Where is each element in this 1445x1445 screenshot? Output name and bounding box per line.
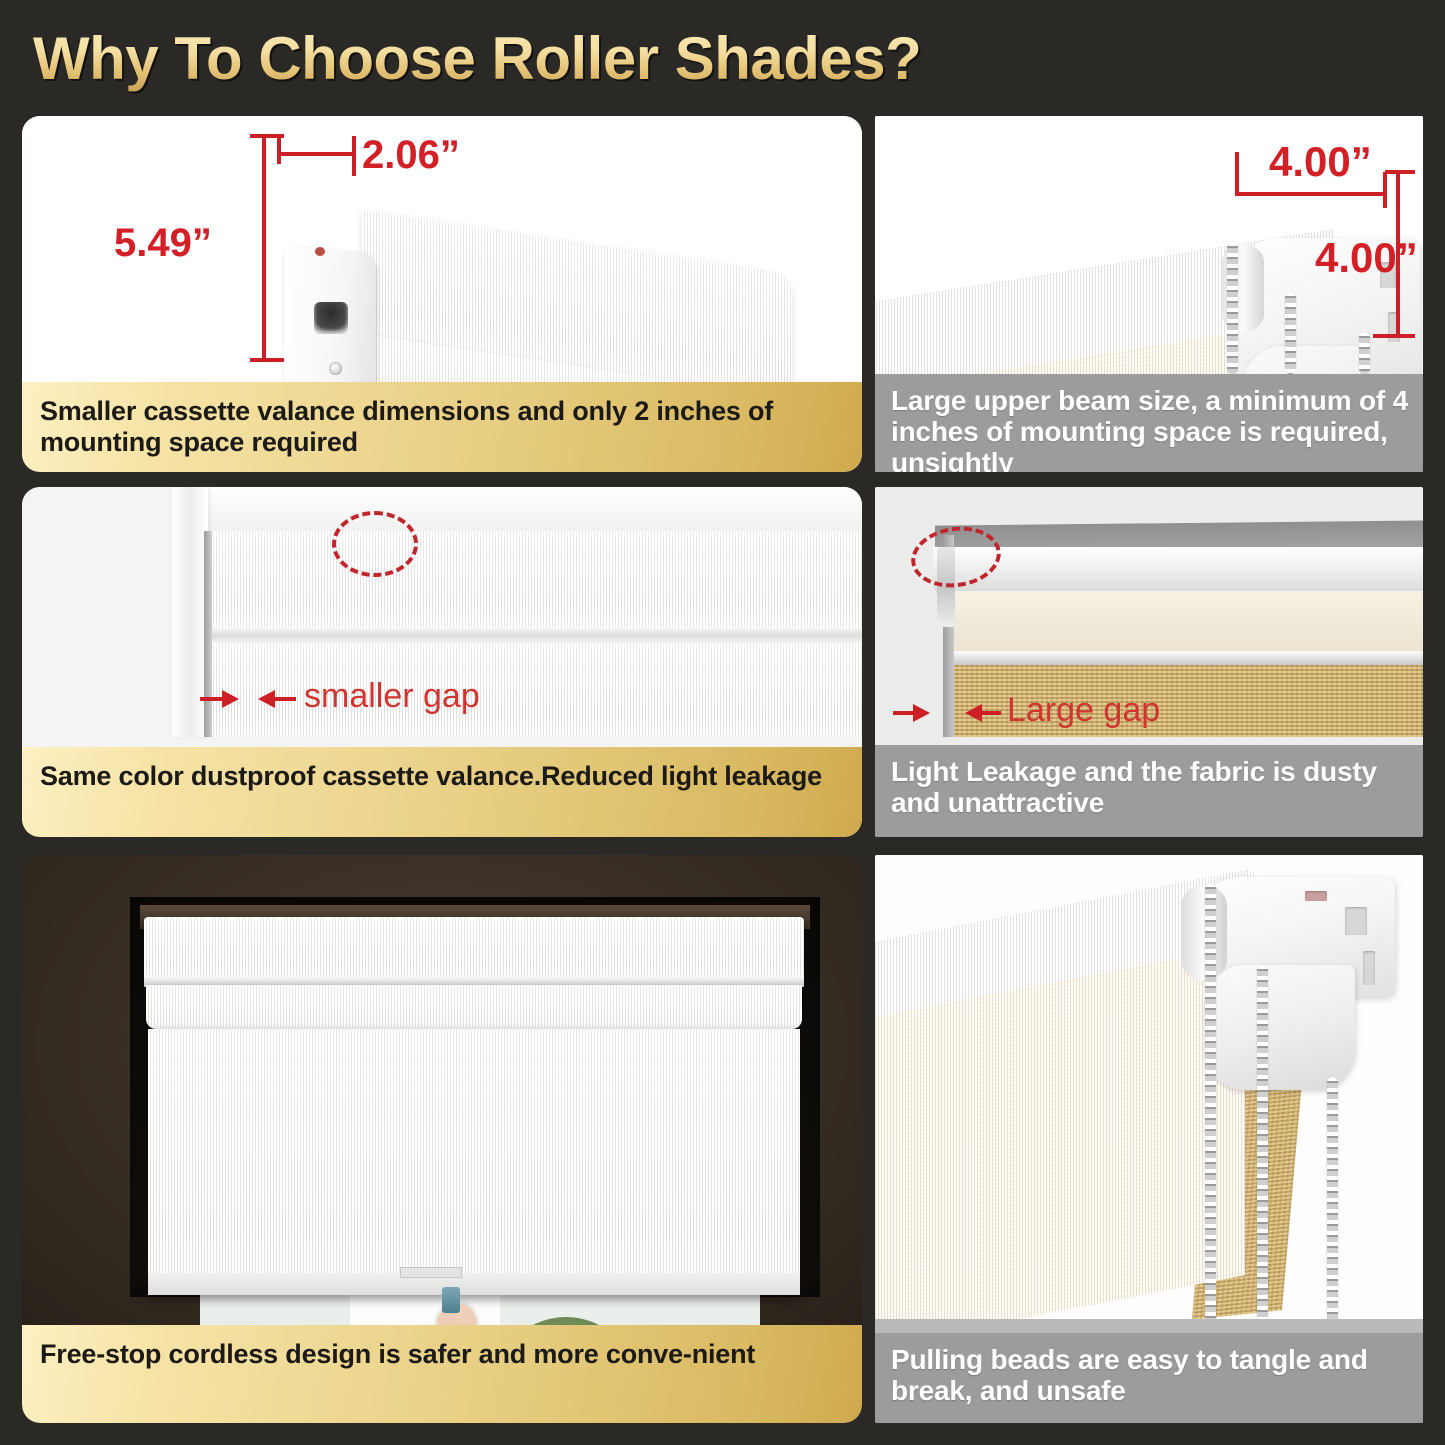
surface-line [875, 1319, 1423, 1333]
tree-foliage-3 [486, 1317, 646, 1325]
bracket-slot-1 [1345, 907, 1367, 935]
cream-fabric-band [953, 591, 1423, 653]
panel-cordless-design: Free-stop cordless design is safer and m… [22, 855, 862, 1423]
panel-1-caption-text: Smaller cassette valance dimensions and … [40, 396, 844, 458]
gap-arrow-stem-right [981, 711, 1001, 715]
panel-6-caption: Pulling beads are easy to tangle and bre… [875, 1333, 1423, 1423]
panel-6-photo [875, 855, 1423, 1333]
bracket-slot-2 [1363, 951, 1375, 985]
title-bar: Why To Choose Roller Shades? [0, 0, 1445, 110]
panel-3-caption: Same color dustproof cassette valance.Re… [22, 747, 862, 837]
beam-height-label: 4.00” [1315, 234, 1418, 282]
brand-tag [400, 1267, 462, 1278]
gap-arrow-left-icon [965, 704, 982, 722]
panel-pulling-beads: Pulling beads are easy to tangle and bre… [875, 855, 1423, 1423]
gap-arrow-left-icon [258, 690, 275, 708]
panel-5-photo [22, 855, 862, 1325]
beam-width-label: 4.00” [1269, 138, 1372, 186]
panel-5-caption-text: Free-stop cordless design is safer and m… [40, 1339, 844, 1370]
bracket-pin-hole [1305, 891, 1327, 901]
grip-handle [442, 1287, 460, 1313]
window-frame-top [172, 487, 862, 533]
bead-chain-right [1327, 1077, 1338, 1333]
shade-side-edge [204, 531, 212, 737]
panel-light-leakage: Large gap Light Leakage and the fabric i… [875, 487, 1423, 837]
bead-chain-middle [1257, 965, 1268, 1333]
panel-4-caption: Light Leakage and the fabric is dusty an… [875, 745, 1423, 837]
panel-2-photo: 4.00” 4.00” [875, 116, 1423, 374]
panel-3-photo: smaller gap [22, 487, 862, 747]
gap-arrow-stem-left [893, 711, 915, 715]
sky-glow [350, 1295, 500, 1325]
valance-lower [146, 985, 802, 1029]
beam-width-line [1237, 192, 1385, 196]
middle-rail [208, 627, 862, 643]
smaller-gap-label: smaller gap [304, 677, 480, 716]
gap-arrow-stem-right [274, 697, 296, 701]
bottom-rail [951, 651, 1423, 665]
large-gap-label: Large gap [1007, 691, 1160, 730]
panel-dustproof-valance: smaller gap Same color dustproof cassett… [22, 487, 862, 837]
panel-5-caption: Free-stop cordless design is safer and m… [22, 1325, 862, 1423]
bead-chain-tail [1359, 332, 1370, 374]
dim-cap-top [250, 134, 284, 138]
dim-cap-bottom [250, 358, 284, 362]
valance-cassette [208, 531, 862, 627]
page-title: Why To Choose Roller Shades? [33, 24, 921, 93]
panel-3-caption-text: Same color dustproof cassette valance.Re… [40, 761, 844, 792]
cord-slot [314, 302, 348, 334]
panel-4-photo: Large gap [875, 487, 1423, 745]
valance-cover [933, 547, 1423, 593]
screw-icon [329, 362, 342, 375]
dim-tick-left [277, 134, 281, 164]
roller-end-disc [1181, 885, 1227, 981]
panel-1-caption: Smaller cassette valance dimensions and … [22, 382, 862, 472]
bead-chain-left [1227, 242, 1238, 374]
red-tab [315, 247, 325, 256]
highlight-circle [332, 511, 418, 577]
cassette-valance [144, 917, 804, 979]
panel-large-beam: 4.00” 4.00” Large upper beam size, a min… [875, 116, 1423, 472]
gap-arrow-right-icon [222, 690, 239, 708]
panel-2-caption: Large upper beam size, a minimum of 4 in… [875, 374, 1423, 472]
bottom-hem-bar [148, 1273, 800, 1295]
gap-arrow-stem-left [200, 697, 224, 701]
shade-fabric [148, 1029, 800, 1295]
bead-chain-right [1285, 292, 1296, 374]
panel-6-caption-text: Pulling beads are easy to tangle and bre… [891, 1345, 1409, 1407]
panel-2-caption-text: Large upper beam size, a minimum of 4 in… [891, 386, 1409, 472]
dim-line-height [262, 134, 266, 362]
width-dimension-label: 2.06” [362, 133, 460, 178]
dim-tick-right [352, 136, 356, 176]
beam-height-cap-top [1385, 170, 1415, 174]
height-dimension-label: 5.49” [114, 221, 212, 266]
bead-chain-left [1205, 883, 1216, 1333]
panel-1-photo: 2.06” 5.49” [22, 116, 862, 382]
window-glass [200, 1295, 760, 1325]
panel-smaller-cassette: 2.06” 5.49” Smaller cassette valance dim… [22, 116, 862, 472]
dim-line-width [277, 152, 355, 156]
beam-width-tick-right [1383, 172, 1387, 208]
mounting-bracket-lower [1205, 965, 1355, 1090]
panel-4-caption-text: Light Leakage and the fabric is dusty an… [891, 757, 1409, 819]
beam-height-cap-bottom [1373, 334, 1415, 338]
beam-width-tick-left [1235, 152, 1239, 196]
gap-arrow-right-icon [913, 704, 930, 722]
